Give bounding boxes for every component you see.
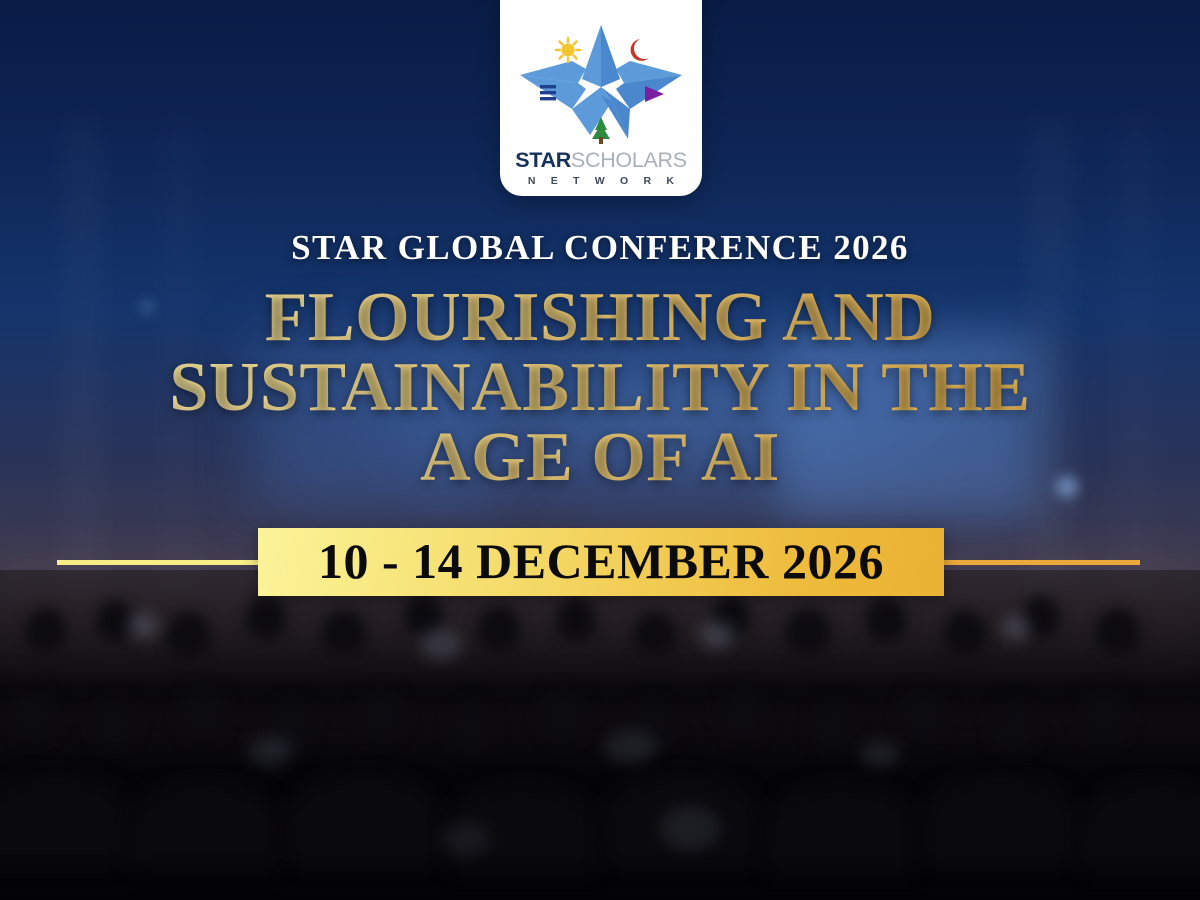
audience-head (356, 688, 406, 742)
audience-head (168, 612, 210, 658)
audience-head (866, 598, 906, 642)
audience-shoulders (922, 774, 1078, 866)
audience-highlight (1002, 616, 1030, 640)
audience-shoulders (1080, 782, 1200, 870)
audience-head (556, 598, 596, 642)
logo-word-star: STAR (515, 148, 571, 172)
star-scholars-star-logo (512, 17, 690, 149)
audience-shoulders (130, 782, 280, 868)
book-lines-icon (540, 85, 556, 100)
audience-head (448, 702, 494, 752)
conference-eyebrow: STAR GLOBAL CONFERENCE 2026 (0, 228, 1200, 268)
audience-head (718, 686, 768, 740)
conference-dates: 10 - 14 DECEMBER 2026 (318, 536, 884, 586)
audience-head (810, 700, 856, 750)
headline-line-1: FLOURISHING AND (0, 283, 1200, 353)
audience-shoulders (0, 774, 130, 864)
date-plate: 10 - 14 DECEMBER 2026 (258, 528, 944, 596)
date-banner-row: 10 - 14 DECEMBER 2026 (0, 528, 1200, 596)
audience-highlight (440, 822, 490, 856)
sun-icon (556, 38, 580, 62)
audience-head (990, 702, 1036, 752)
headline-line-3: AGE OF AI (0, 423, 1200, 493)
audience-highlight (128, 614, 158, 638)
audience-highlight (860, 740, 900, 768)
logo-word-scholars: SCHOLARS (571, 148, 687, 172)
audience-shoulders (286, 774, 442, 866)
audience-head (246, 596, 286, 640)
poster-headline: FLOURISHING AND SUSTAINABILITY IN THE AG… (0, 283, 1200, 493)
audience-head (178, 686, 228, 740)
audience-head (1096, 608, 1140, 654)
audience-highlight (660, 806, 720, 850)
audience-shoulders (766, 784, 916, 870)
audience-head (538, 688, 588, 742)
headline-line-2: SUSTAINABILITY IN THE (0, 353, 1200, 423)
audience-head (898, 688, 948, 742)
audience-head (26, 608, 66, 652)
audience-highlight (700, 622, 734, 648)
audience-highlight (420, 630, 462, 660)
crescent-moon-icon (631, 39, 649, 61)
audience-head (10, 690, 58, 742)
logo-card: STARSCHOLARS N E T W O R K (500, 0, 702, 196)
date-rule-left (57, 560, 267, 565)
audience-head (634, 612, 676, 656)
date-rule-right (935, 560, 1140, 565)
audience-head (786, 608, 830, 654)
audience-head (478, 606, 520, 652)
audience-head (944, 610, 986, 656)
logo-subtitle-network: N E T W O R K (522, 176, 680, 187)
audience-highlight (248, 736, 292, 766)
audience-head (92, 698, 138, 748)
logo-wordmark: STARSCHOLARS (515, 150, 687, 172)
audience-head (322, 610, 366, 656)
audience-highlight (604, 730, 656, 764)
conference-poster: STARSCHOLARS N E T W O R K STAR GLOBAL C… (0, 0, 1200, 900)
audience-head (1078, 688, 1130, 744)
audience-crowd (0, 570, 1200, 900)
